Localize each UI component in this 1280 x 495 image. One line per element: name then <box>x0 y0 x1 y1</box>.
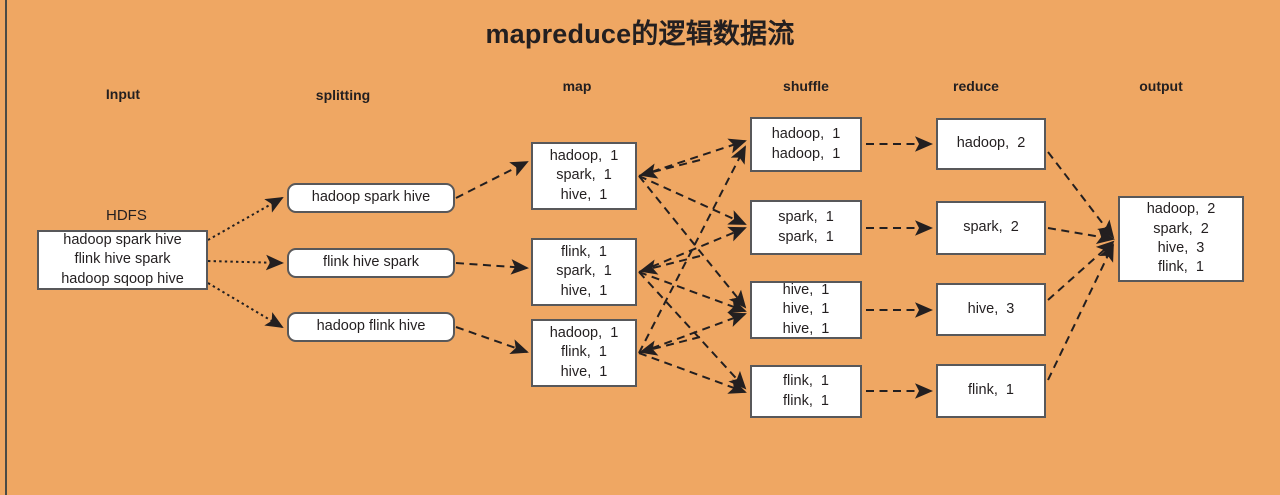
splitting-node-1: hadoop spark hive <box>287 183 455 213</box>
shuffle-node-1-text: hadoop, 1 hadoop, 1 <box>772 125 841 164</box>
shuffle-backref-map1 <box>641 160 700 175</box>
output-node-1-text: hadoop, 2 spark, 2 hive, 3 flink, 1 <box>1147 200 1216 278</box>
shuffle-node-2: spark, 1 spark, 1 <box>750 200 862 255</box>
splitting-node-2-text: flink hive spark <box>323 253 419 272</box>
shuffle-node-1: hadoop, 1 hadoop, 1 <box>750 117 862 172</box>
reduce2-to-output <box>1048 228 1113 239</box>
reduce-node-3: hive, 3 <box>936 283 1046 336</box>
map2-to-shuffle3 <box>639 272 745 311</box>
input-to-split-3 <box>208 283 282 327</box>
map-node-2: flink, 1 spark, 1 hive, 1 <box>531 238 637 306</box>
map-node-1: hadoop, 1 spark, 1 hive, 1 <box>531 142 637 210</box>
map-node-3: hadoop, 1 flink, 1 hive, 1 <box>531 319 637 387</box>
reduce-node-4: flink, 1 <box>936 364 1046 418</box>
shuffle-node-3: hive, 1 hive, 1 hive, 1 <box>750 281 862 339</box>
input-node-1-text: hadoop spark hive flink hive spark hadoo… <box>61 231 184 289</box>
map3-to-shuffle1 <box>639 147 745 353</box>
split-to-map-3 <box>456 327 527 352</box>
reduce3-to-output <box>1048 242 1113 300</box>
input-to-split-2 <box>208 261 282 263</box>
map2-to-shuffle4 <box>639 272 745 388</box>
reduce-node-1: hadoop, 2 <box>936 118 1046 170</box>
map1-to-shuffle2 <box>639 176 745 224</box>
splitting-node-1-text: hadoop spark hive <box>312 188 431 207</box>
output-node-1: hadoop, 2 spark, 2 hive, 3 flink, 1 <box>1118 196 1244 282</box>
reduce4-to-output <box>1048 245 1113 380</box>
map-node-1-text: hadoop, 1 spark, 1 hive, 1 <box>550 147 619 205</box>
input-to-split-1 <box>208 198 282 240</box>
shuffle-node-3-text: hive, 1 hive, 1 hive, 1 <box>783 281 830 339</box>
shuffle-node-2-text: spark, 1 spark, 1 <box>778 208 834 247</box>
map3-to-shuffle4 <box>639 353 745 392</box>
splitting-node-3: hadoop flink hive <box>287 312 455 342</box>
shuffle-node-4: flink, 1 flink, 1 <box>750 365 862 418</box>
splitting-node-3-text: hadoop flink hive <box>317 317 426 336</box>
reduce-node-4-text: flink, 1 <box>968 381 1014 400</box>
map3-to-shuffle3 <box>639 314 745 353</box>
split-to-map-1 <box>456 162 527 198</box>
map1-to-shuffle3 <box>639 176 745 307</box>
reduce-node-2: spark, 2 <box>936 201 1046 255</box>
map-node-3-text: hadoop, 1 flink, 1 hive, 1 <box>550 324 619 382</box>
reduce1-to-output <box>1048 152 1113 237</box>
input-node-1: hadoop spark hive flink hive spark hadoo… <box>37 230 208 290</box>
split-to-map-2 <box>456 263 527 268</box>
reduce-node-3-text: hive, 3 <box>968 300 1015 319</box>
shuffle-node-4-text: flink, 1 flink, 1 <box>783 372 829 411</box>
map-node-2-text: flink, 1 spark, 1 hive, 1 <box>556 243 612 301</box>
shuffle-backref-map3 <box>641 337 700 352</box>
reduce-node-2-text: spark, 2 <box>963 218 1019 237</box>
splitting-node-2: flink hive spark <box>287 248 455 278</box>
reduce-node-1-text: hadoop, 2 <box>957 134 1026 153</box>
